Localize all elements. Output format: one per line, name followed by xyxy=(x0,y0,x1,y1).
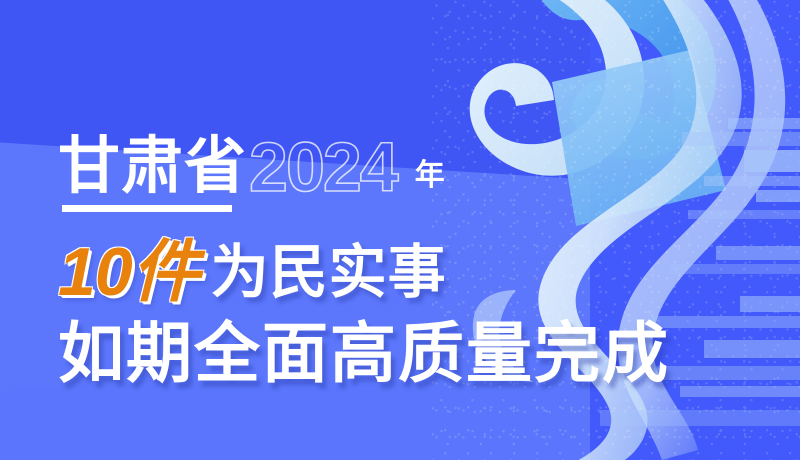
promo-banner: 甘肃省 2024 年 10件 为民实事 如期全面高质量完成 xyxy=(0,0,800,460)
year-suffix-text: 年 xyxy=(415,161,445,191)
headline-block: 甘肃省 2024 年 10件 为民实事 如期全面高质量完成 xyxy=(0,0,800,460)
statement-text: 如期全面高质量完成 xyxy=(58,320,670,386)
headline-line-3: 如期全面高质量完成 xyxy=(58,320,670,386)
province-name-text: 甘肃省 xyxy=(58,136,247,198)
year-number-outline-text: 2024 xyxy=(249,132,397,202)
subject-text: 为民实事 xyxy=(211,244,447,302)
headline-line-1: 甘肃省 2024 年 xyxy=(58,128,445,198)
headline-line-2: 10件 为民实事 xyxy=(58,238,447,306)
headline-underline-rule xyxy=(62,205,232,212)
item-count-text: 10件 xyxy=(58,238,199,306)
